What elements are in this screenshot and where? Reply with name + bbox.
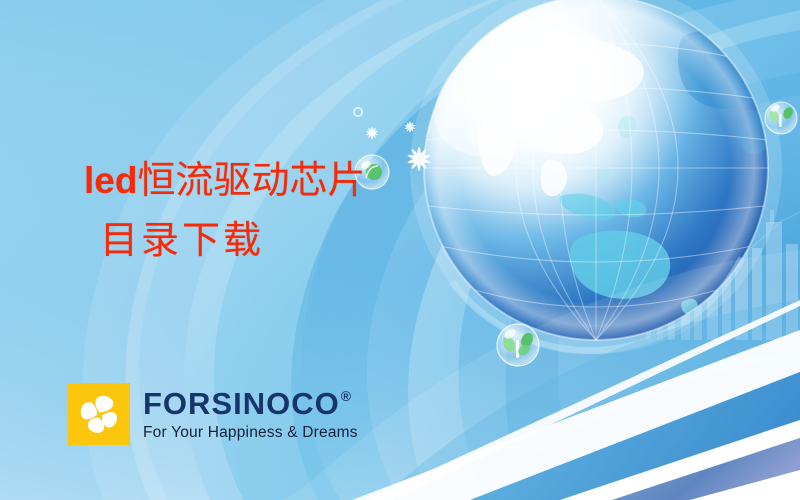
promo-headline: led恒流驱动芯片 目录下载 (84, 162, 365, 261)
promo-banner: led恒流驱动芯片 目录下载 FORSINOCO ® For Your Happ… (0, 0, 800, 500)
logo-wordmark-row: FORSINOCO ® (143, 388, 358, 419)
registered-trademark-symbol: ® (341, 389, 352, 403)
logo-tagline: For Your Happiness & Dreams (143, 425, 358, 441)
bubble-sprout-icon (497, 324, 539, 366)
headline-line-1: led恒流驱动芯片 (84, 162, 365, 201)
brand-logo[interactable]: FORSINOCO ® For Your Happiness & Dreams (68, 383, 358, 445)
logo-wordmark-text: FORSINOCO (143, 388, 340, 419)
headline-line-2: 目录下载 (100, 222, 365, 261)
headline-latin-text: led (84, 160, 137, 201)
logo-text-block: FORSINOCO ® For Your Happiness & Dreams (143, 388, 358, 441)
forsinoco-clover-mark (68, 383, 130, 445)
bubble-leaf-icon (765, 102, 797, 134)
headline-cjk-text: 恒流驱动芯片 (137, 160, 365, 202)
